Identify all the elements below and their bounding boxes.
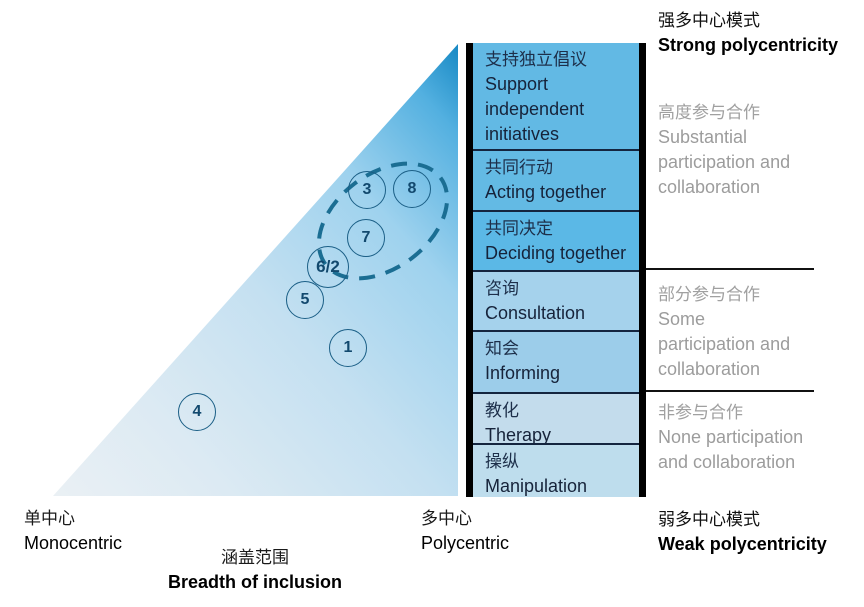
- breadth-of-inclusion-wedge: [50, 44, 458, 496]
- axis-title-breadth-of-inclusion-en: Breadth of inclusion: [140, 570, 370, 595]
- annotation-substantial-participation-cn: 高度参与合作: [658, 100, 858, 125]
- annotation-none-participation-en-line-2: and collaboration: [658, 450, 858, 475]
- wedge-polygon: [53, 44, 458, 496]
- ladder-rung-acting-together[interactable]: 共同行动Acting together: [473, 151, 639, 212]
- axis-label-monocentric-cn: 单中心: [24, 507, 122, 531]
- annotation-substantial-participation-en-line-1: Substantial: [658, 125, 858, 150]
- axis-title-breadth-of-inclusion: 涵盖范围 Breadth of inclusion: [140, 546, 370, 595]
- annotation-some-participation-cn: 部分参与合作: [658, 282, 858, 307]
- annotation-none-participation-cn: 非参与合作: [658, 400, 858, 425]
- ladder-rung-label-cn: 知会: [485, 337, 639, 361]
- ladder-rung-therapy[interactable]: 教化Therapy: [473, 394, 639, 445]
- ladder-rung-support-independent-initiatives[interactable]: 支持独立倡议Supportindependentinitiatives: [473, 43, 639, 151]
- ladder-rung-label-en-line-1: Manipulation: [485, 474, 639, 497]
- ladder-rung-consultation[interactable]: 咨询Consultation: [473, 272, 639, 332]
- ladder-rung-label-en-line-1: Informing: [485, 361, 639, 386]
- axis-label-polycentric-en: Polycentric: [421, 531, 509, 556]
- ladder-rung-label-en-line-1: Deciding together: [485, 241, 639, 266]
- case-circle-5[interactable]: 5: [286, 281, 324, 319]
- ladder-rung-label-en-line-1: Therapy: [485, 423, 639, 445]
- ladder-rung-label-cn: 支持独立倡议: [485, 48, 639, 72]
- axis-title-breadth-of-inclusion-cn: 涵盖范围: [140, 546, 370, 570]
- annotation-none-participation-en-line-1: None participation: [658, 425, 858, 450]
- axis-label-polycentric: 多中心 Polycentric: [421, 507, 509, 556]
- case-circle-1[interactable]: 1: [329, 329, 367, 367]
- axis-label-monocentric: 单中心 Monocentric: [24, 507, 122, 556]
- diagram-canvas: 3876/2514 支持独立倡议Supportindependentinitia…: [0, 0, 864, 607]
- ladder-rung-label-en-line-3: initiatives: [485, 122, 639, 147]
- participation-ladder: 支持独立倡议Supportindependentinitiatives共同行动A…: [466, 43, 646, 497]
- axis-label-polycentric-cn: 多中心: [421, 507, 509, 531]
- ladder-rung-manipulation[interactable]: 操纵Manipulation: [473, 445, 639, 497]
- annotation-weak-polycentricity: 弱多中心模式 Weak polycentricity: [658, 507, 858, 557]
- ladder-rung-label-en-line-1: Consultation: [485, 301, 639, 326]
- case-circle-8[interactable]: 8: [393, 170, 431, 208]
- ladder-rung-label-en-line-1: Acting together: [485, 180, 639, 205]
- ladder-rung-label-cn: 咨询: [485, 277, 639, 301]
- ladder-rung-label-cn: 共同决定: [485, 217, 639, 241]
- annotation-some-participation-en-line-3: collaboration: [658, 357, 858, 382]
- annotation-weak-polycentricity-en: Weak polycentricity: [658, 532, 858, 557]
- ladder-rung-informing[interactable]: 知会Informing: [473, 332, 639, 394]
- case-circle-7[interactable]: 7: [347, 219, 385, 257]
- ladder-rung-label-cn: 教化: [485, 399, 639, 423]
- annotation-weak-polycentricity-cn: 弱多中心模式: [658, 507, 858, 532]
- annotation-none-participation: 非参与合作 None participation and collaborati…: [658, 400, 858, 475]
- divider-some-none: [646, 390, 814, 392]
- annotation-substantial-participation-en-line-2: participation and: [658, 150, 858, 175]
- ladder-rung-label-cn: 操纵: [485, 450, 639, 474]
- axis-label-monocentric-en: Monocentric: [24, 531, 122, 556]
- case-circle-6-2[interactable]: 6/2: [307, 246, 349, 288]
- ladder-rung-label-en-line-1: Support: [485, 72, 639, 97]
- ladder-rung-label-en-line-2: independent: [485, 97, 639, 122]
- annotation-substantial-participation: 高度参与合作 Substantial participation and col…: [658, 100, 858, 200]
- wedge-svg: [50, 44, 458, 496]
- annotation-strong-polycentricity-en: Strong polycentricity: [658, 33, 858, 58]
- case-circle-4[interactable]: 4: [178, 393, 216, 431]
- annotation-strong-polycentricity: 强多中心模式 Strong polycentricity: [658, 8, 858, 58]
- annotation-substantial-participation-en-line-3: collaboration: [658, 175, 858, 200]
- ladder-rung-deciding-together[interactable]: 共同决定Deciding together: [473, 212, 639, 272]
- divider-substantial-some: [646, 268, 814, 270]
- ladder-rung-label-cn: 共同行动: [485, 156, 639, 180]
- annotation-some-participation-en-line-1: Some: [658, 307, 858, 332]
- annotation-some-participation-en-line-2: participation and: [658, 332, 858, 357]
- case-circle-3[interactable]: 3: [348, 171, 386, 209]
- annotation-some-participation: 部分参与合作 Some participation and collaborat…: [658, 282, 858, 382]
- annotation-strong-polycentricity-cn: 强多中心模式: [658, 8, 858, 33]
